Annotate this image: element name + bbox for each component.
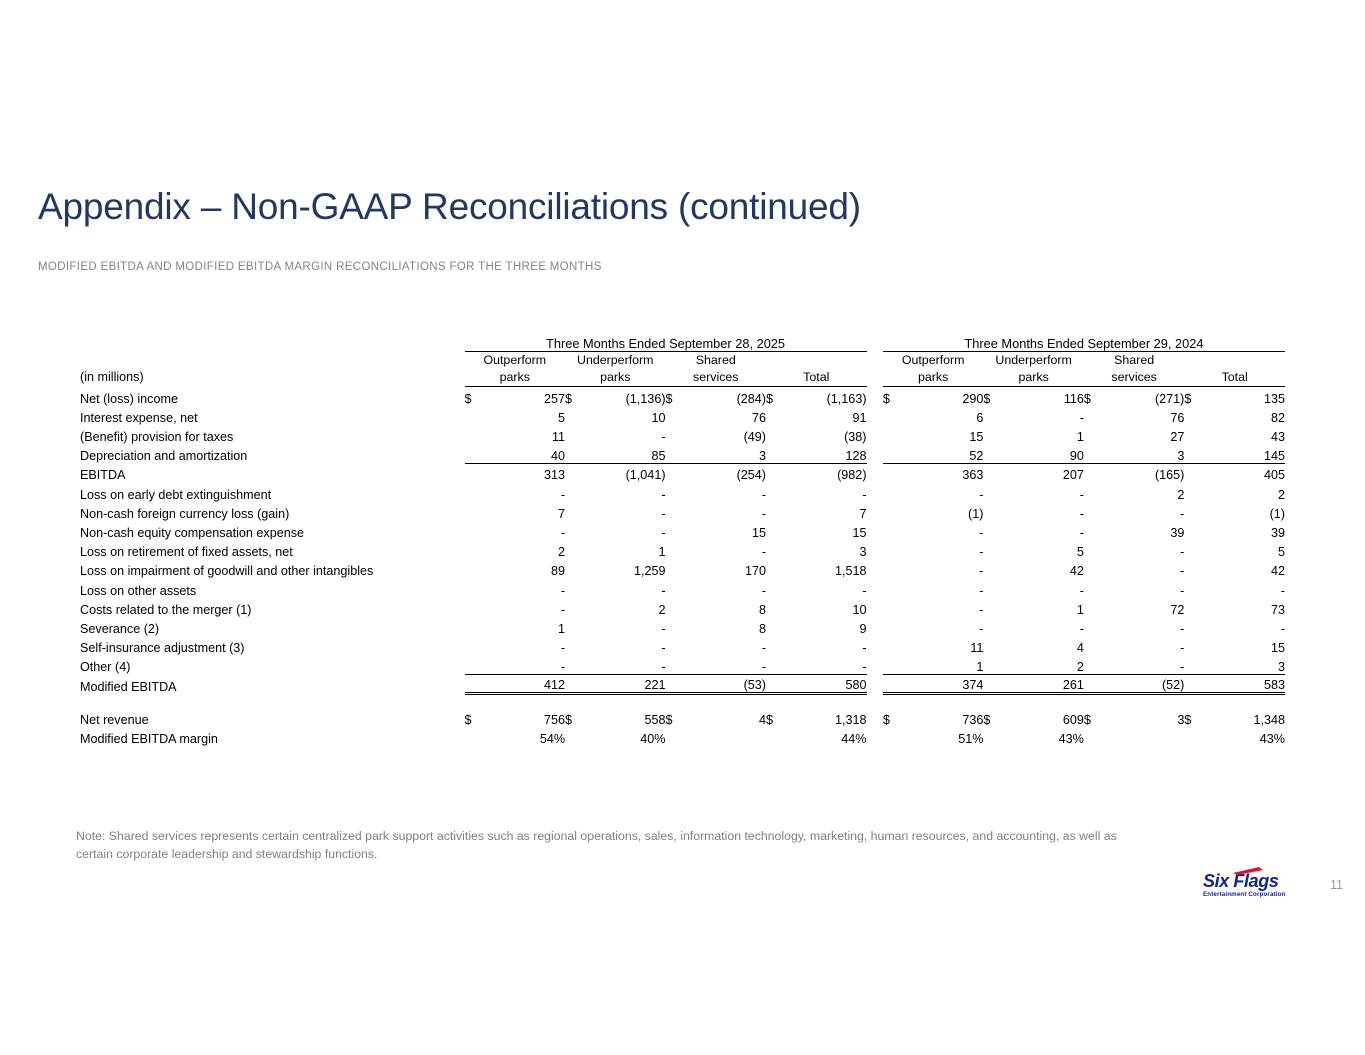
row-label: Loss on impairment of goodwill and other… <box>80 559 465 578</box>
currency-symbol <box>983 655 1004 674</box>
group-header-2025: Three Months Ended September 28, 2025 <box>465 336 867 352</box>
table-cell: 5 <box>1004 540 1084 559</box>
table-cell: - <box>1004 617 1084 636</box>
table-cell: - <box>787 655 867 674</box>
currency-symbol <box>1084 617 1105 636</box>
table-cell: - <box>1004 578 1084 597</box>
table-row: Loss on early debt extinguishment------2… <box>80 482 1285 501</box>
group-gap <box>867 444 883 463</box>
table-cell: 44% <box>787 727 867 746</box>
row-label: Net revenue <box>80 708 465 727</box>
currency-symbol <box>983 425 1004 444</box>
group-gap <box>867 369 883 387</box>
table-cell: 7 <box>485 502 565 521</box>
table-cell: 43% <box>1205 727 1285 746</box>
table-cell: - <box>485 655 565 674</box>
table-cell: - <box>485 598 565 617</box>
table-cell: - <box>586 425 666 444</box>
table-cell: (1) <box>903 502 983 521</box>
table-cell: - <box>1205 617 1285 636</box>
table-cell: - <box>586 521 666 540</box>
currency-symbol <box>465 444 486 463</box>
row-label: Self-insurance adjustment (3) <box>80 636 465 655</box>
table-row: Modified EBITDA412221(53)580374261(52)58… <box>80 674 1285 693</box>
table-cell: 72 <box>1104 598 1184 617</box>
table-cell: - <box>1004 521 1084 540</box>
currency-symbol <box>883 655 904 674</box>
table-cell: 2 <box>1205 482 1285 501</box>
table-cell: 2 <box>586 598 666 617</box>
table-cell: - <box>903 617 983 636</box>
row-label: Non-cash equity compensation expense <box>80 521 465 540</box>
table-header: Three Months Ended September 28, 2025 Th… <box>80 336 1285 387</box>
col-header-parks-2024-a: parks <box>883 369 983 387</box>
currency-symbol <box>1084 674 1105 693</box>
table-row-summary: Modified EBITDA margin54%40%44%51%43%43% <box>80 727 1285 746</box>
col-header-total-2024: Total <box>1184 369 1285 387</box>
currency-symbol <box>883 559 904 578</box>
col-header-parks-2025-b: parks <box>565 369 665 387</box>
table-cell: 1 <box>485 617 565 636</box>
currency-symbol <box>465 578 486 597</box>
row-spacer <box>80 694 1285 708</box>
group-gap <box>867 617 883 636</box>
table-cell: 4 <box>686 708 766 727</box>
group-gap <box>867 674 883 693</box>
currency-symbol <box>565 617 586 636</box>
table-cell: 2 <box>1004 655 1084 674</box>
table-row: Non-cash equity compensation expense--15… <box>80 521 1285 540</box>
currency-symbol <box>1184 559 1205 578</box>
currency-symbol <box>883 482 904 501</box>
currency-symbol <box>983 617 1004 636</box>
table-row: Loss on other assets-------- <box>80 578 1285 597</box>
table-cell: 261 <box>1004 674 1084 693</box>
table-cell: - <box>787 636 867 655</box>
group-header-row: Three Months Ended September 28, 2025 Th… <box>80 336 1285 352</box>
row-label: Modified EBITDA margin <box>80 727 465 746</box>
currency-symbol <box>1184 727 1205 746</box>
table-cell: 15 <box>787 521 867 540</box>
currency-symbol <box>1184 578 1205 597</box>
currency-symbol <box>1084 727 1105 746</box>
table-cell: 3 <box>1104 444 1184 463</box>
currency-symbol <box>983 482 1004 501</box>
table-cell: 89 <box>485 559 565 578</box>
row-label: Other (4) <box>80 655 465 674</box>
table-cell: - <box>485 482 565 501</box>
col-header-shared-2024: Shared <box>1084 352 1184 370</box>
table-cell: 9 <box>787 617 867 636</box>
table-row: Net (loss) income$257$(1,136)$(284)$(1,1… <box>80 387 1285 406</box>
table-cell: 7 <box>787 502 867 521</box>
currency-symbol <box>1084 559 1105 578</box>
table-cell: - <box>586 502 666 521</box>
table-row: Other (4)----12-3 <box>80 655 1285 674</box>
row-label: EBITDA <box>80 463 465 482</box>
table-cell: - <box>586 655 666 674</box>
table-cell: - <box>1004 502 1084 521</box>
currency-symbol <box>1084 502 1105 521</box>
group-gap <box>867 406 883 425</box>
currency-symbol: $ <box>1184 387 1205 406</box>
table-cell: 91 <box>787 406 867 425</box>
group-gap <box>867 708 883 727</box>
currency-symbol <box>666 727 687 746</box>
col-header-outperform-2024: Outperform <box>883 352 983 370</box>
currency-symbol <box>983 578 1004 597</box>
table-cell: - <box>586 578 666 597</box>
table-cell: 39 <box>1104 521 1184 540</box>
table-cell: 2 <box>485 540 565 559</box>
group-gap <box>867 727 883 746</box>
currency-symbol <box>565 521 586 540</box>
currency-symbol: $ <box>666 708 687 727</box>
row-label: Costs related to the merger (1) <box>80 598 465 617</box>
table-cell: 145 <box>1205 444 1285 463</box>
table-cell: 3 <box>787 540 867 559</box>
table-cell: 76 <box>686 406 766 425</box>
table-cell: - <box>787 482 867 501</box>
table-row: Depreciation and amortization40853128529… <box>80 444 1285 463</box>
currency-symbol <box>465 425 486 444</box>
currency-symbol <box>565 482 586 501</box>
column-header-row-line1: Outperform Underperform Shared Outperfor… <box>80 352 1285 370</box>
currency-symbol <box>883 598 904 617</box>
table-cell: 583 <box>1205 674 1285 693</box>
col-header-services-2025: services <box>666 369 766 387</box>
table-cell: - <box>1104 617 1184 636</box>
table-cell: 11 <box>903 636 983 655</box>
currency-symbol <box>766 482 787 501</box>
table-cell: - <box>686 482 766 501</box>
table-cell: (284) <box>686 387 766 406</box>
header-spacer <box>80 336 465 352</box>
currency-symbol: $ <box>883 708 904 727</box>
table-cell: 54% <box>485 727 565 746</box>
currency-symbol <box>666 482 687 501</box>
currency-symbol <box>1084 463 1105 482</box>
group-gap <box>867 578 883 597</box>
table-cell: 609 <box>1004 708 1084 727</box>
currency-symbol <box>465 482 486 501</box>
table-cell: (165) <box>1104 463 1184 482</box>
currency-symbol: $ <box>465 387 486 406</box>
table-cell: - <box>586 617 666 636</box>
table-cell: 42 <box>1205 559 1285 578</box>
table-cell: (254) <box>686 463 766 482</box>
currency-symbol <box>983 406 1004 425</box>
currency-symbol <box>766 578 787 597</box>
currency-symbol <box>883 617 904 636</box>
table-row: Self-insurance adjustment (3)----114-15 <box>80 636 1285 655</box>
group-gap <box>867 352 883 370</box>
currency-symbol <box>1184 636 1205 655</box>
table-cell: 2 <box>1104 482 1184 501</box>
table-cell: 363 <box>903 463 983 482</box>
currency-symbol <box>666 463 687 482</box>
table-cell <box>686 727 766 746</box>
table-cell: 42 <box>1004 559 1084 578</box>
currency-symbol <box>1084 406 1105 425</box>
table-cell: 10 <box>787 598 867 617</box>
table-cell: - <box>1205 578 1285 597</box>
table-cell: 116 <box>1004 387 1084 406</box>
table-cell: 40 <box>485 444 565 463</box>
currency-symbol <box>883 674 904 693</box>
table-cell: - <box>1104 578 1184 597</box>
table-cell: 3 <box>686 444 766 463</box>
slide-canvas: Appendix – Non-GAAP Reconciliations (con… <box>0 0 1365 1055</box>
currency-symbol <box>766 425 787 444</box>
currency-symbol <box>565 674 586 693</box>
currency-symbol <box>766 406 787 425</box>
row-label: Net (loss) income <box>80 387 465 406</box>
currency-symbol <box>1184 425 1205 444</box>
table-cell: 52 <box>903 444 983 463</box>
table-row: Loss on retirement of fixed assets, net2… <box>80 540 1285 559</box>
table-cell: 736 <box>903 708 983 727</box>
table-cell: - <box>586 636 666 655</box>
table-cell: 412 <box>485 674 565 693</box>
page-subtitle: MODIFIED EBITDA AND MODIFIED EBITDA MARG… <box>38 261 602 273</box>
table-cell: - <box>485 521 565 540</box>
currency-symbol: $ <box>983 387 1004 406</box>
table-cell: 73 <box>1205 598 1285 617</box>
logo-wordmark: Six Flags <box>1203 872 1307 890</box>
table-cell: 1 <box>1004 598 1084 617</box>
table-cell: - <box>686 540 766 559</box>
table-cell: - <box>903 482 983 501</box>
currency-symbol <box>465 463 486 482</box>
group-gap <box>867 598 883 617</box>
row-label: Modified EBITDA <box>80 674 465 693</box>
currency-symbol <box>565 425 586 444</box>
table-cell <box>1104 727 1184 746</box>
currency-symbol <box>666 540 687 559</box>
col-header-underperform-2024: Underperform <box>983 352 1083 370</box>
table-cell: 43 <box>1205 425 1285 444</box>
currency-symbol <box>983 674 1004 693</box>
units-cell <box>80 352 465 370</box>
group-gap <box>867 336 883 352</box>
table-cell: 82 <box>1205 406 1285 425</box>
table-row: Non-cash foreign currency loss (gain)7--… <box>80 502 1285 521</box>
table-cell: 1 <box>586 540 666 559</box>
currency-symbol <box>565 636 586 655</box>
currency-symbol <box>666 521 687 540</box>
currency-symbol <box>465 540 486 559</box>
col-header-services-2024: services <box>1084 369 1184 387</box>
currency-symbol <box>1184 521 1205 540</box>
row-label: Loss on retirement of fixed assets, net <box>80 540 465 559</box>
table-cell: 51% <box>903 727 983 746</box>
currency-symbol <box>983 502 1004 521</box>
group-gap <box>867 482 883 501</box>
group-gap <box>867 636 883 655</box>
currency-symbol <box>666 444 687 463</box>
currency-symbol <box>565 598 586 617</box>
currency-symbol <box>465 598 486 617</box>
table-cell: (49) <box>686 425 766 444</box>
table-cell: 39 <box>1205 521 1285 540</box>
table-cell: 76 <box>1104 406 1184 425</box>
currency-symbol <box>666 578 687 597</box>
table-cell: - <box>787 578 867 597</box>
table-cell: 85 <box>586 444 666 463</box>
currency-symbol <box>766 598 787 617</box>
six-flags-logo: Six Flags Entertainment Corporation <box>1203 872 1307 902</box>
reconciliation-table-container: Three Months Ended September 28, 2025 Th… <box>80 336 1285 746</box>
row-label: Non-cash foreign currency loss (gain) <box>80 502 465 521</box>
currency-symbol <box>465 636 486 655</box>
col-header-shared-2025: Shared <box>666 352 766 370</box>
currency-symbol <box>766 502 787 521</box>
table-cell: (1,041) <box>586 463 666 482</box>
currency-symbol <box>1084 636 1105 655</box>
currency-symbol <box>983 598 1004 617</box>
currency-symbol <box>1184 406 1205 425</box>
currency-symbol: $ <box>1184 708 1205 727</box>
table-cell: 27 <box>1104 425 1184 444</box>
table-cell: 43% <box>1004 727 1084 746</box>
table-body: Net (loss) income$257$(1,136)$(284)$(1,1… <box>80 387 1285 746</box>
table-cell: - <box>1004 482 1084 501</box>
currency-symbol <box>1184 482 1205 501</box>
currency-symbol <box>883 578 904 597</box>
currency-symbol <box>1084 444 1105 463</box>
spacer-cell <box>80 694 1285 708</box>
col-header-total-2025-line1 <box>766 352 867 370</box>
table-row: EBITDA313(1,041)(254)(982)363207(165)405 <box>80 463 1285 482</box>
table-cell: 1,348 <box>1205 708 1285 727</box>
currency-symbol <box>766 521 787 540</box>
table-cell: 5 <box>485 406 565 425</box>
table-cell: (52) <box>1104 674 1184 693</box>
table-row: (Benefit) provision for taxes11-(49)(38)… <box>80 425 1285 444</box>
group-gap <box>867 655 883 674</box>
currency-symbol <box>766 727 787 746</box>
table-cell: 313 <box>485 463 565 482</box>
page-number: 11 <box>1330 878 1343 892</box>
table-cell: 3 <box>1104 708 1184 727</box>
table-cell: 290 <box>903 387 983 406</box>
currency-symbol <box>766 655 787 674</box>
currency-symbol <box>983 559 1004 578</box>
table-cell: 207 <box>1004 463 1084 482</box>
currency-symbol <box>983 727 1004 746</box>
currency-symbol <box>766 674 787 693</box>
table-cell: 135 <box>1205 387 1285 406</box>
currency-symbol <box>883 444 904 463</box>
col-header-underperform-2025: Underperform <box>565 352 665 370</box>
currency-symbol <box>983 521 1004 540</box>
table-cell: 10 <box>586 406 666 425</box>
currency-symbol: $ <box>883 387 904 406</box>
currency-symbol <box>666 636 687 655</box>
table-cell: 257 <box>485 387 565 406</box>
currency-symbol <box>565 444 586 463</box>
group-gap <box>867 425 883 444</box>
currency-symbol <box>766 540 787 559</box>
currency-symbol <box>565 578 586 597</box>
table-cell: - <box>1104 655 1184 674</box>
table-cell: - <box>686 578 766 597</box>
table-row: Costs related to the merger (1)-2810-172… <box>80 598 1285 617</box>
currency-symbol: $ <box>1084 708 1105 727</box>
currency-symbol <box>666 559 687 578</box>
table-cell: (271) <box>1104 387 1184 406</box>
table-cell: - <box>903 578 983 597</box>
table-cell: 1,518 <box>787 559 867 578</box>
currency-symbol <box>766 617 787 636</box>
currency-symbol <box>1084 521 1105 540</box>
currency-symbol <box>766 636 787 655</box>
currency-symbol: $ <box>565 708 586 727</box>
currency-symbol <box>883 425 904 444</box>
reconciliation-table: Three Months Ended September 28, 2025 Th… <box>80 336 1285 746</box>
col-header-total-2024-line1 <box>1184 352 1285 370</box>
currency-symbol <box>465 655 486 674</box>
currency-symbol <box>666 655 687 674</box>
currency-symbol <box>666 406 687 425</box>
currency-symbol <box>883 636 904 655</box>
currency-symbol: $ <box>666 387 687 406</box>
table-cell: - <box>1104 559 1184 578</box>
table-cell: 756 <box>485 708 565 727</box>
column-header-row-line2: (in millions) parks parks services Total… <box>80 369 1285 387</box>
table-cell: (1,163) <box>787 387 867 406</box>
table-cell: 1,259 <box>586 559 666 578</box>
table-cell: 15 <box>903 425 983 444</box>
table-cell: 580 <box>787 674 867 693</box>
table-cell: 4 <box>1004 636 1084 655</box>
footnote-note: Note: Shared services represents certain… <box>76 828 1156 863</box>
table-cell: 15 <box>1205 636 1285 655</box>
currency-symbol <box>883 540 904 559</box>
currency-symbol <box>1184 502 1205 521</box>
currency-symbol <box>666 502 687 521</box>
currency-symbol <box>565 406 586 425</box>
row-label: Loss on early debt extinguishment <box>80 482 465 501</box>
currency-symbol <box>565 655 586 674</box>
currency-symbol: $ <box>983 708 1004 727</box>
currency-symbol <box>983 540 1004 559</box>
currency-symbol <box>1084 598 1105 617</box>
table-cell: 8 <box>686 617 766 636</box>
currency-symbol <box>1184 655 1205 674</box>
page-title: Appendix – Non-GAAP Reconciliations (con… <box>38 186 861 228</box>
table-cell: (982) <box>787 463 867 482</box>
table-row-summary: Net revenue$756$558$4$1,318$736$609$3$1,… <box>80 708 1285 727</box>
table-cell: 1,318 <box>787 708 867 727</box>
currency-symbol <box>565 463 586 482</box>
currency-symbol <box>1184 598 1205 617</box>
group-gap <box>867 521 883 540</box>
currency-symbol <box>766 444 787 463</box>
col-header-total-2025: Total <box>766 369 867 387</box>
row-label: Severance (2) <box>80 617 465 636</box>
table-cell: - <box>903 559 983 578</box>
table-row: Interest expense, net51076916-7682 <box>80 406 1285 425</box>
table-row: Severance (2)1-89---- <box>80 617 1285 636</box>
currency-symbol <box>565 727 586 746</box>
currency-symbol <box>666 617 687 636</box>
currency-symbol <box>1184 444 1205 463</box>
table-cell: - <box>1004 406 1084 425</box>
currency-symbol <box>766 463 787 482</box>
table-cell: - <box>903 521 983 540</box>
